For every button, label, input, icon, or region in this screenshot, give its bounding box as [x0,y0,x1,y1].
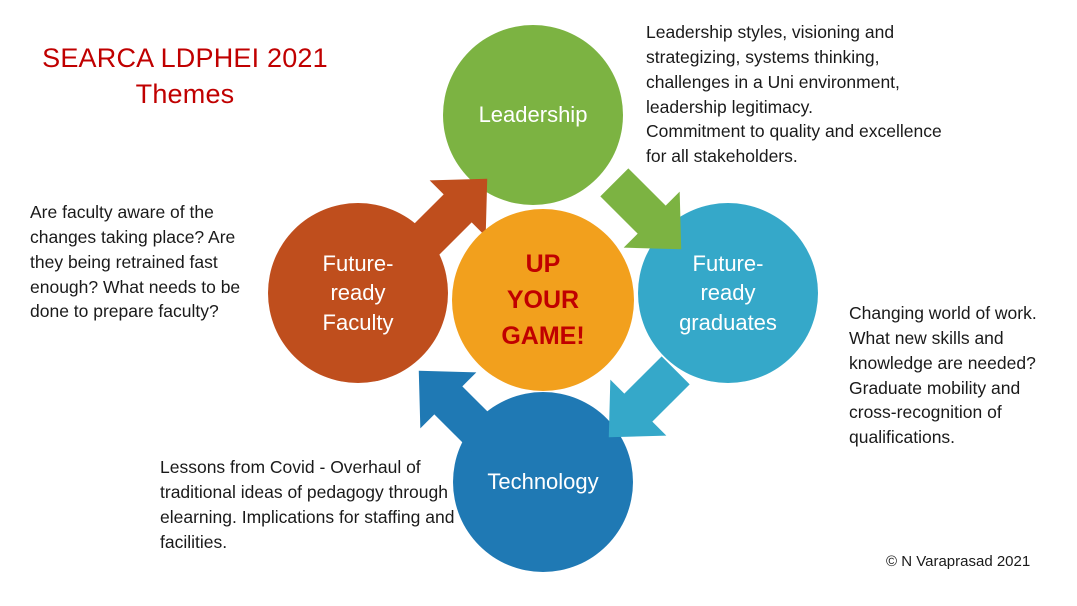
title-line-2: Themes [20,76,350,112]
title-line-1: SEARCA LDPHEI 2021 [42,43,328,73]
note-technology: Lessons from Covid - Overhaul of traditi… [160,455,460,554]
note-leadership: Leadership styles, visioning and strateg… [646,20,946,169]
node-technology-label: Technology [487,467,598,496]
node-center-label: UP YOUR GAME! [501,246,584,355]
node-future-ready-faculty-label: Future- ready Faculty [323,249,394,336]
node-leadership-label: Leadership [479,100,588,129]
page-title: SEARCA LDPHEI 2021 Themes [20,40,350,113]
copyright-notice: © N Varaprasad 2021 [886,553,1030,570]
note-future-ready-graduates: Changing world of work. What new skills … [849,301,1064,450]
note-future-ready-faculty: Are faculty aware of the changes taking … [30,200,260,324]
node-center-up-your-game[interactable]: UP YOUR GAME! [452,209,634,391]
diagram-canvas: SEARCA LDPHEI 2021 Themes Leadership sty… [0,0,1077,606]
